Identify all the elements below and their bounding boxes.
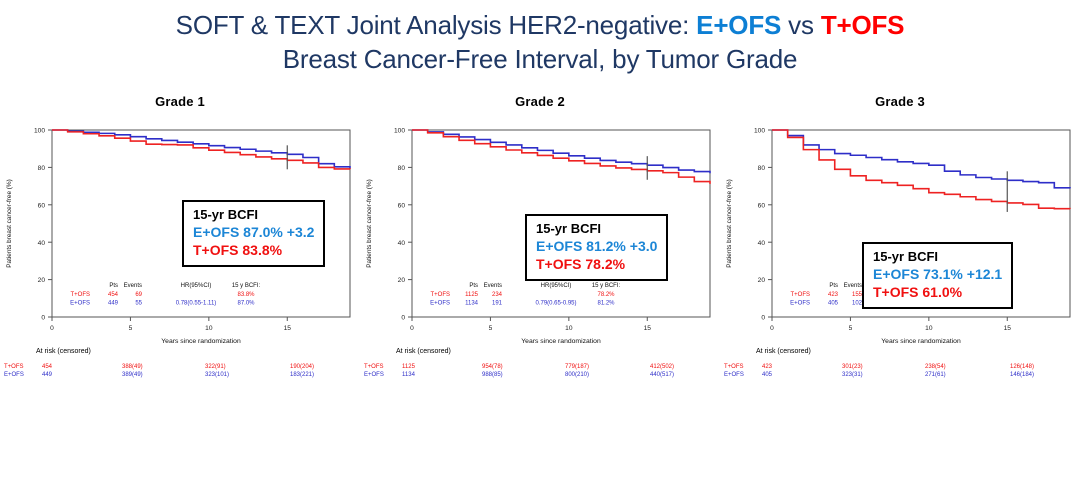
at-risk-value: 323(31) <box>842 372 863 378</box>
km-plot: 020406080100051015Patients breast cancer… <box>720 114 1080 364</box>
title-prefix: SOFT & TEXT Joint Analysis HER2-negative… <box>176 10 697 40</box>
svg-text:234: 234 <box>492 292 503 298</box>
at-risk-value: 183(221) <box>290 372 314 378</box>
svg-text:100: 100 <box>394 128 405 135</box>
svg-text:Pts: Pts <box>469 283 478 289</box>
svg-text:E+OFS: E+OFS <box>790 301 810 307</box>
at-risk-row: E+OFS405323(31)271(61)146(184) <box>720 372 1080 381</box>
at-risk-value: 301(23) <box>842 364 863 370</box>
svg-text:81.2%: 81.2% <box>597 301 615 307</box>
at-risk-value: 449 <box>42 372 52 378</box>
panel-grade-1: Grade 1020406080100051015Patients breast… <box>0 94 360 424</box>
svg-text:1125: 1125 <box>465 292 479 298</box>
svg-text:Years since randomization: Years since randomization <box>521 338 601 345</box>
svg-text:78.2%: 78.2% <box>597 292 615 298</box>
svg-text:HR(95%CI): HR(95%CI) <box>181 283 212 289</box>
curve-t-ofs <box>772 130 1070 209</box>
at-risk-value: 800(210) <box>565 372 589 378</box>
svg-text:0: 0 <box>770 325 774 332</box>
svg-text:40: 40 <box>398 240 406 247</box>
at-risk-value: 126(148) <box>1010 364 1034 370</box>
panel-title: Grade 1 <box>0 94 360 109</box>
svg-text:Pts: Pts <box>829 283 838 289</box>
callout-header: 15-yr BCFI <box>873 249 1002 266</box>
svg-text:423: 423 <box>828 292 839 298</box>
title-arm-t: T+OFS <box>821 10 905 40</box>
svg-text:Pts: Pts <box>109 283 118 289</box>
svg-text:10: 10 <box>205 325 213 332</box>
title-line-2: Breast Cancer-Free Interval, by Tumor Gr… <box>0 42 1080 76</box>
at-risk-arm-label: E+OFS <box>364 372 384 378</box>
svg-text:Patients breast cancer-free (%: Patients breast cancer-free (%) <box>366 179 373 267</box>
callout-e-ofs: E+OFS 73.1% +12.1 <box>873 266 1002 284</box>
svg-text:T+OFS: T+OFS <box>790 292 810 298</box>
svg-text:0: 0 <box>401 315 405 322</box>
at-risk-table: At risk (censored)T+OFS1125954(78)779(18… <box>360 348 720 388</box>
panels-container: Grade 1020406080100051015Patients breast… <box>0 94 1080 424</box>
svg-text:T+OFS: T+OFS <box>70 292 90 298</box>
bcfi-callout: 15-yr BCFIE+OFS 81.2% +3.0T+OFS 78.2% <box>525 214 668 281</box>
panel-title: Grade 2 <box>360 94 720 109</box>
svg-text:1134: 1134 <box>465 301 479 307</box>
svg-text:15 y BCFI:: 15 y BCFI: <box>592 283 621 289</box>
at-risk-arm-label: T+OFS <box>364 364 384 370</box>
callout-e-ofs: E+OFS 87.0% +3.2 <box>193 224 314 242</box>
km-plot: 020406080100051015Patients breast cancer… <box>360 114 720 364</box>
panel-grade-3: Grade 3020406080100051015Patients breast… <box>720 94 1080 424</box>
svg-text:80: 80 <box>398 165 406 172</box>
at-risk-value: 405 <box>762 372 772 378</box>
svg-text:60: 60 <box>758 202 766 209</box>
at-risk-value: 454 <box>42 364 52 370</box>
svg-text:55: 55 <box>135 301 142 307</box>
svg-text:80: 80 <box>38 165 46 172</box>
title-vs: vs <box>781 10 821 40</box>
bcfi-callout: 15-yr BCFIE+OFS 73.1% +12.1T+OFS 61.0% <box>862 242 1013 309</box>
at-risk-arm-label: E+OFS <box>724 372 744 378</box>
svg-text:191: 191 <box>492 301 503 307</box>
svg-text:0: 0 <box>410 325 414 332</box>
at-risk-table: At risk (censored)T+OFS423301(23)238(54)… <box>720 348 1080 388</box>
at-risk-arm-label: T+OFS <box>724 364 744 370</box>
at-risk-value: 238(54) <box>925 364 946 370</box>
svg-text:Years since randomization: Years since randomization <box>881 338 961 345</box>
svg-text:5: 5 <box>129 325 133 332</box>
svg-text:87.0%: 87.0% <box>237 301 255 307</box>
at-risk-row: E+OFS449389(49)323(101)183(221) <box>0 372 360 381</box>
at-risk-value: 1125 <box>402 364 415 370</box>
at-risk-value: 190(204) <box>290 364 314 370</box>
at-risk-value: 271(61) <box>925 372 946 378</box>
svg-text:20: 20 <box>758 277 766 284</box>
at-risk-value: 779(187) <box>565 364 589 370</box>
title-arm-e: E+OFS <box>696 10 781 40</box>
svg-text:Patients breast cancer-free (%: Patients breast cancer-free (%) <box>6 179 13 267</box>
svg-text:5: 5 <box>489 325 493 332</box>
km-plot-svg: 020406080100051015Patients breast cancer… <box>720 114 1080 364</box>
svg-text:405: 405 <box>828 301 839 307</box>
svg-text:60: 60 <box>398 202 406 209</box>
at-risk-row: E+OFS1134988(85)800(210)440(517) <box>360 372 720 381</box>
svg-text:15: 15 <box>644 325 652 332</box>
svg-text:69: 69 <box>135 292 142 298</box>
at-risk-header: At risk (censored) <box>396 348 451 355</box>
curve-t-ofs <box>412 130 710 184</box>
svg-text:15: 15 <box>284 325 292 332</box>
svg-text:Events: Events <box>844 283 862 289</box>
svg-text:40: 40 <box>38 240 46 247</box>
svg-text:80: 80 <box>758 165 766 172</box>
at-risk-value: 146(184) <box>1010 372 1034 378</box>
at-risk-header: At risk (censored) <box>36 348 91 355</box>
svg-text:0: 0 <box>41 315 45 322</box>
svg-text:E+OFS: E+OFS <box>70 301 90 307</box>
at-risk-table: At risk (censored)T+OFS454388(49)322(91)… <box>0 348 360 388</box>
svg-text:15 y BCFI:: 15 y BCFI: <box>232 283 261 289</box>
curve-e-ofs <box>772 130 1070 188</box>
curve-t-ofs <box>52 130 350 169</box>
title-line-1: SOFT & TEXT Joint Analysis HER2-negative… <box>0 8 1080 42</box>
callout-t-ofs: T+OFS 61.0% <box>873 284 1002 302</box>
callout-t-ofs: T+OFS 78.2% <box>536 256 657 274</box>
svg-text:0: 0 <box>761 315 765 322</box>
at-risk-value: 412(502) <box>650 364 674 370</box>
at-risk-value: 954(78) <box>482 364 503 370</box>
svg-text:0: 0 <box>50 325 54 332</box>
callout-header: 15-yr BCFI <box>193 207 314 224</box>
svg-text:10: 10 <box>565 325 573 332</box>
svg-text:0.78(0.55-1.11): 0.78(0.55-1.11) <box>176 301 217 307</box>
svg-text:40: 40 <box>758 240 766 247</box>
svg-text:449: 449 <box>108 301 119 307</box>
callout-header: 15-yr BCFI <box>536 221 657 238</box>
at-risk-value: 388(49) <box>122 364 143 370</box>
svg-text:Events: Events <box>124 283 142 289</box>
page-title: SOFT & TEXT Joint Analysis HER2-negative… <box>0 0 1080 76</box>
panel-title: Grade 3 <box>720 94 1080 109</box>
at-risk-value: 423 <box>762 364 772 370</box>
svg-text:HR(95%CI): HR(95%CI) <box>541 283 572 289</box>
svg-text:Events: Events <box>484 283 502 289</box>
svg-text:10: 10 <box>925 325 933 332</box>
panel-grade-2: Grade 2020406080100051015Patients breast… <box>360 94 720 424</box>
svg-text:5: 5 <box>849 325 853 332</box>
svg-text:0.79(0.65-0.95): 0.79(0.65-0.95) <box>535 301 576 307</box>
svg-text:60: 60 <box>38 202 46 209</box>
at-risk-header: At risk (censored) <box>756 348 811 355</box>
svg-text:20: 20 <box>38 277 46 284</box>
at-risk-value: 323(101) <box>205 372 229 378</box>
svg-text:Patients breast cancer-free (%: Patients breast cancer-free (%) <box>726 179 733 267</box>
at-risk-arm-label: E+OFS <box>4 372 24 378</box>
svg-text:20: 20 <box>398 277 406 284</box>
svg-text:100: 100 <box>754 128 765 135</box>
at-risk-value: 389(49) <box>122 372 143 378</box>
svg-text:Years since randomization: Years since randomization <box>161 338 241 345</box>
svg-text:E+OFS: E+OFS <box>430 301 450 307</box>
at-risk-value: 1134 <box>402 372 415 378</box>
km-plot: 020406080100051015Patients breast cancer… <box>0 114 360 364</box>
svg-text:83.8%: 83.8% <box>237 292 255 298</box>
svg-text:15: 15 <box>1004 325 1012 332</box>
at-risk-value: 322(91) <box>205 364 226 370</box>
callout-e-ofs: E+OFS 81.2% +3.0 <box>536 238 657 256</box>
svg-text:T+OFS: T+OFS <box>430 292 450 298</box>
bcfi-callout: 15-yr BCFIE+OFS 87.0% +3.2T+OFS 83.8% <box>182 200 325 267</box>
at-risk-arm-label: T+OFS <box>4 364 24 370</box>
at-risk-value: 988(85) <box>482 372 503 378</box>
at-risk-value: 440(517) <box>650 372 674 378</box>
svg-text:454: 454 <box>108 292 119 298</box>
svg-text:100: 100 <box>34 128 45 135</box>
callout-t-ofs: T+OFS 83.8% <box>193 242 314 260</box>
